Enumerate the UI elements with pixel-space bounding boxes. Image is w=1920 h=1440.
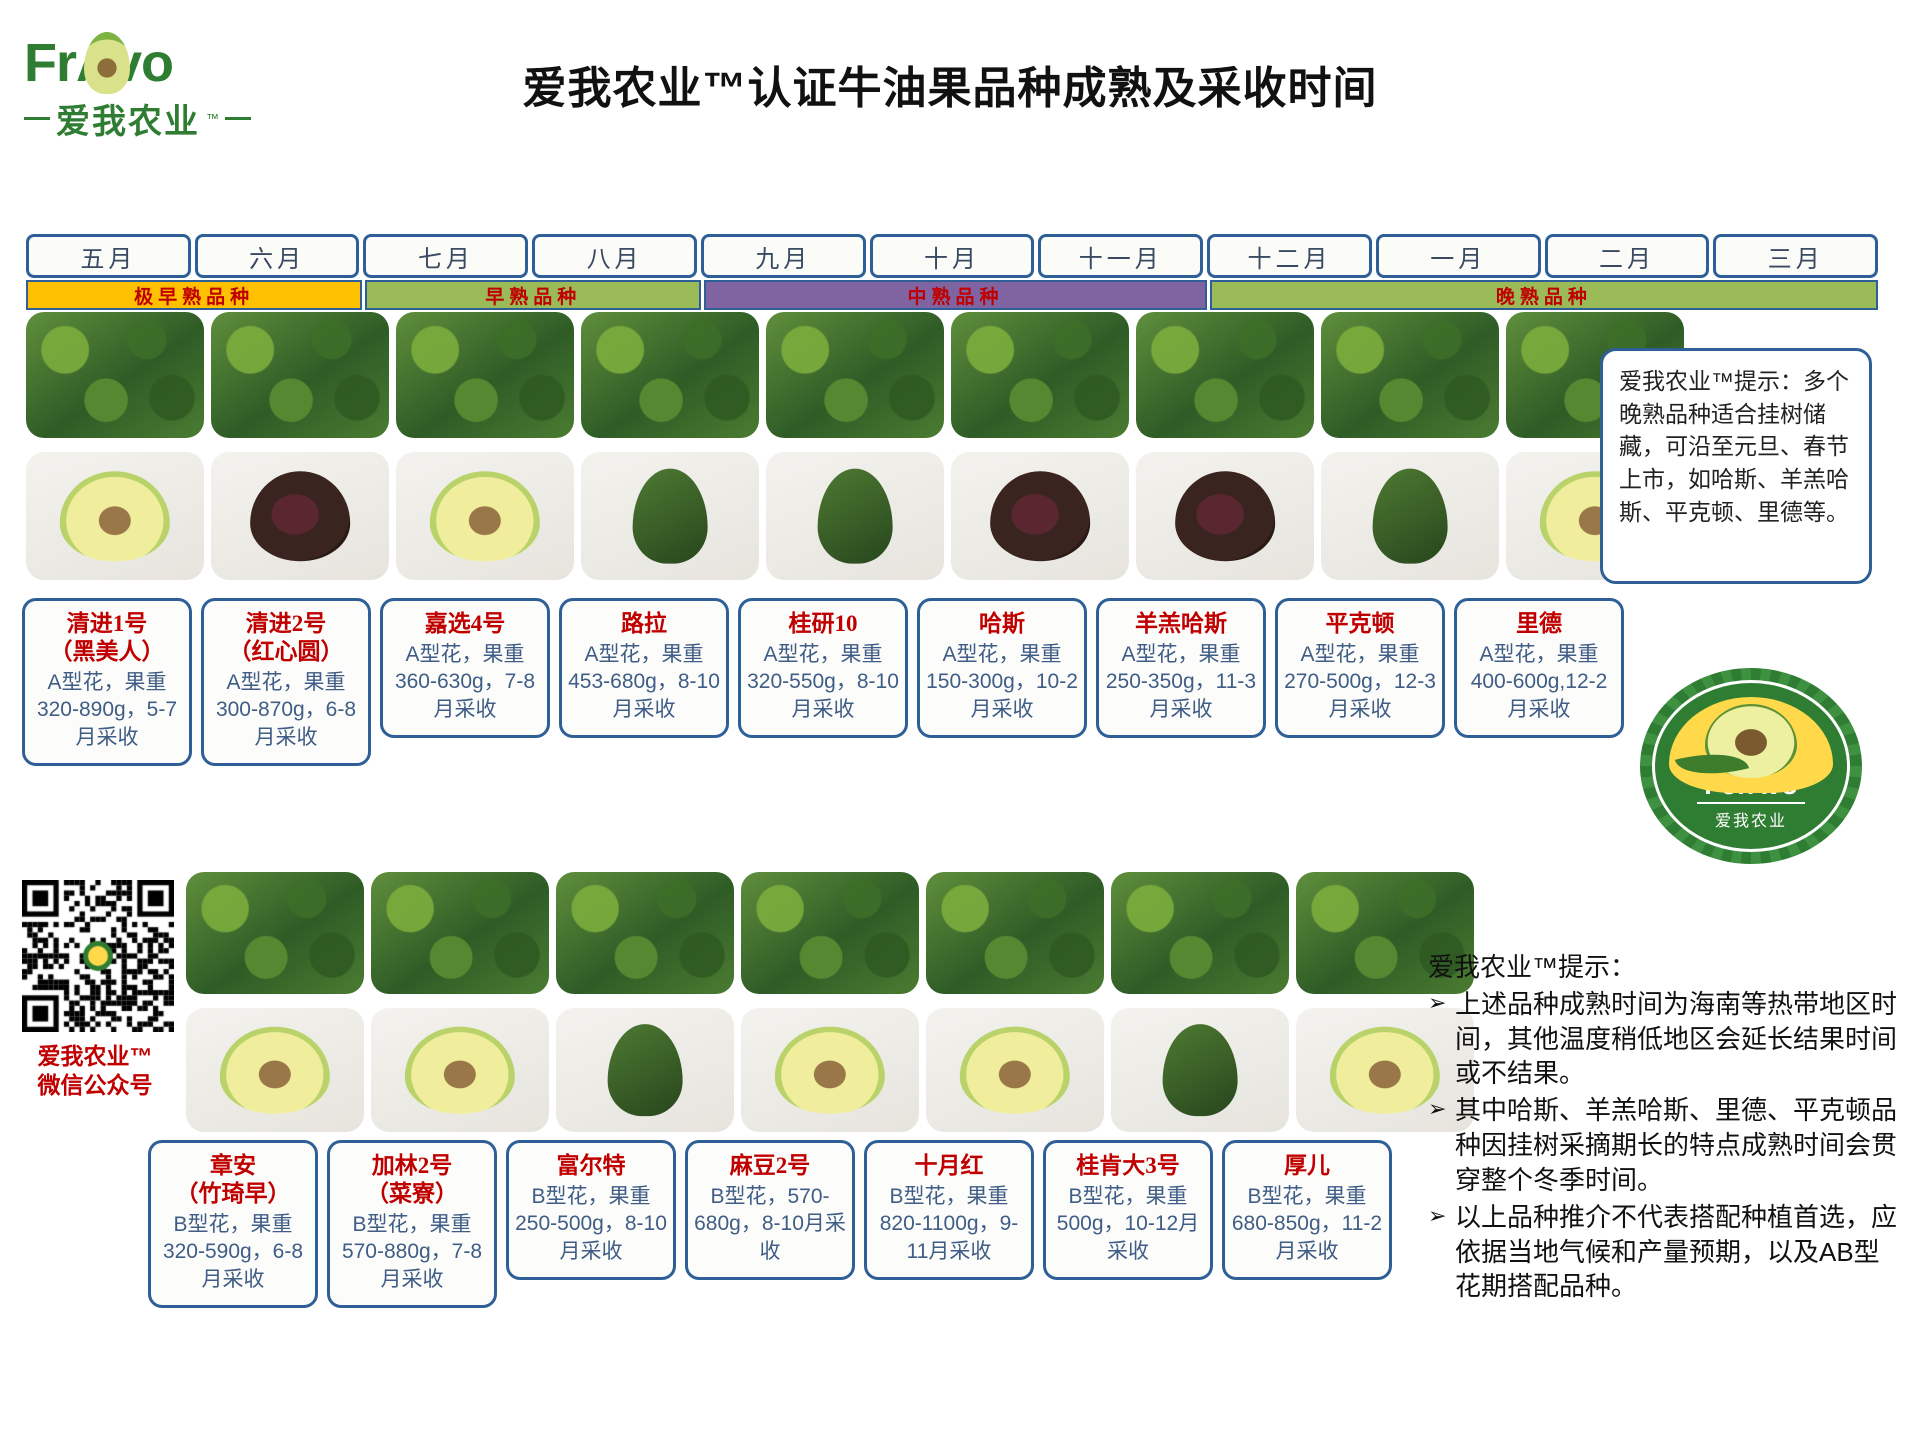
logo-rule-right <box>225 117 251 120</box>
logo-wordmark: FrAvo <box>24 36 294 90</box>
fruit-photo-r2-2 <box>371 1008 549 1132</box>
page-title: 爱我农业™认证牛油果品种成熟及采收时间 <box>400 52 1500 116</box>
tree-photo-r1-8 <box>1321 312 1499 438</box>
row2-fruit-photos <box>186 1008 1474 1132</box>
avocado-half-icon <box>405 1027 515 1114</box>
tree-photo-r2-5 <box>926 872 1104 994</box>
row1-card-1[interactable]: 清进1号（黑美人）A型花，果重320-890g，5-7月采收 <box>22 598 192 766</box>
wechat-qr-code[interactable] <box>22 880 174 1032</box>
row2-tree-photos <box>186 872 1474 994</box>
season-band-4: 晚熟品种 <box>1210 280 1878 310</box>
qr-caption: 爱我农业™ 微信公众号 <box>10 1042 180 1099</box>
variety-name: 清进1号 <box>31 610 183 638</box>
month-cell-7: 十一月 <box>1038 234 1203 278</box>
variety-description: A型花，果重320-890g，5-7月采收 <box>31 669 183 751</box>
row1-card-4[interactable]: 路拉A型花，果重453-680g，8-10月采收 <box>559 598 729 738</box>
logo-word-f: F <box>24 33 56 93</box>
month-cell-11: 三月 <box>1713 234 1878 278</box>
avocado-half-icon <box>775 1027 885 1114</box>
month-cell-3: 七月 <box>363 234 528 278</box>
fruit-photo-r1-7 <box>1136 452 1314 580</box>
bullet-arrow-icon: ➢ <box>1428 1200 1448 1304</box>
tree-photo-r1-6 <box>951 312 1129 438</box>
fruit-photo-r2-5 <box>926 1008 1104 1132</box>
tip-item-text: 以上品种推介不代表搭配种植首选，应依据当地气候和产量预期，以及AB型花期搭配品种… <box>1455 1200 1898 1304</box>
variety-description: B型花，果重680-850g，11-2月采收 <box>1231 1183 1383 1265</box>
variety-description: B型花，570-680g，8-10月采收 <box>694 1183 846 1265</box>
month-cell-1: 五月 <box>26 234 191 278</box>
logo-rule-left <box>24 117 50 120</box>
logo-chinese: 爱我农业 ™ <box>24 94 294 143</box>
variety-name: 十月红 <box>873 1152 1025 1180</box>
fruit-photo-r2-1 <box>186 1008 364 1132</box>
tree-photo-r1-7 <box>1136 312 1314 438</box>
variety-name: 富尔特 <box>515 1152 667 1180</box>
avocado-half-icon <box>220 1027 330 1114</box>
tip-item-2: ➢其中哈斯、羊羔哈斯、里德、平克顿品种因挂树采摘期长的特点成熟时间会贯穿整个冬季… <box>1428 1093 1898 1197</box>
badge-yellow-field <box>1669 697 1833 793</box>
variety-name: 桂研10 <box>747 610 899 638</box>
row1-variety-cards: 清进1号（黑美人）A型花，果重320-890g，5-7月采收清进2号（红心圆）A… <box>22 598 1624 766</box>
variety-alias: （竹琦早） <box>157 1180 309 1208</box>
row1-card-8[interactable]: 平克顿A型花，果重270-500g，12-3月采收 <box>1275 598 1445 738</box>
row1-card-6[interactable]: 哈斯A型花，果重150-300g，10-2月采收 <box>917 598 1087 738</box>
tip-item-text: 其中哈斯、羊羔哈斯、里德、平克顿品种因挂树采摘期长的特点成熟时间会贯穿整个冬季时… <box>1455 1093 1898 1197</box>
month-cell-10: 二月 <box>1545 234 1710 278</box>
fruit-photo-r2-4 <box>741 1008 919 1132</box>
variety-description: B型花，果重570-880g，7-8月采收 <box>336 1211 488 1293</box>
row1-card-3[interactable]: 嘉选4号A型花，果重360-630g，7-8月采收 <box>380 598 550 738</box>
variety-name: 清进2号 <box>210 610 362 638</box>
avocado-whole-icon <box>1373 469 1448 564</box>
tip-item-1: ➢上述品种成熟时间为海南等热带地区时间，其他温度稍低地区会延长结果时间或不结果。 <box>1428 987 1898 1091</box>
row1-fruit-photos <box>26 452 1684 580</box>
variety-name: 平克顿 <box>1284 610 1436 638</box>
variety-name: 里德 <box>1463 610 1615 638</box>
tree-photo-r2-1 <box>186 872 364 994</box>
variety-name: 哈斯 <box>926 610 1078 638</box>
fruit-photo-r1-8 <box>1321 452 1499 580</box>
avocado-whole-icon <box>608 1024 683 1116</box>
row1-card-7[interactable]: 羊羔哈斯A型花，果重250-350g，11-3月采收 <box>1096 598 1266 738</box>
avocado-whole-icon <box>1163 1024 1238 1116</box>
variety-name: 嘉选4号 <box>389 610 541 638</box>
variety-description: A型花，果重400-600g,12-2月采收 <box>1463 641 1615 723</box>
variety-name: 章安 <box>157 1152 309 1180</box>
variety-name: 羊羔哈斯 <box>1105 610 1257 638</box>
tree-photo-r1-4 <box>581 312 759 438</box>
variety-name: 桂肯大3号 <box>1052 1152 1204 1180</box>
qr-caption-line1: 爱我农业™ <box>10 1042 180 1071</box>
avocado-dark-icon <box>250 471 350 561</box>
infographic-page: FrAvo 爱我农业 ™ 爱我农业™认证牛油果品种成熟及采收时间 五月六月七月八… <box>0 0 1920 1440</box>
tree-photo-r1-2 <box>211 312 389 438</box>
variety-name: 麻豆2号 <box>694 1152 846 1180</box>
fruit-photo-r1-6 <box>951 452 1129 580</box>
variety-description: B型花，果重500g，10-12月采收 <box>1052 1183 1204 1265</box>
variety-name: 厚儿 <box>1231 1152 1383 1180</box>
tree-photo-r1-3 <box>396 312 574 438</box>
row1-tree-photos <box>26 312 1684 438</box>
avocado-half-icon <box>960 1027 1070 1114</box>
brand-badge: ForAvo 爱我农业 <box>1640 668 1862 864</box>
tree-photo-r2-4 <box>741 872 919 994</box>
season-band-1: 极早熟品种 <box>26 280 362 310</box>
fruit-photo-r1-3 <box>396 452 574 580</box>
avocado-whole-icon <box>633 469 708 564</box>
fruit-photo-r2-6 <box>1111 1008 1289 1132</box>
variety-description: A型花，果重300-870g，6-8月采收 <box>210 669 362 751</box>
variety-description: B型花，果重820-1100g，9-11月采收 <box>873 1183 1025 1265</box>
season-band-strip: 极早熟品种早熟品种中熟品种晚熟品种 <box>26 280 1878 310</box>
bullet-arrow-icon: ➢ <box>1428 1093 1448 1197</box>
variety-description: A型花，果重270-500g，12-3月采收 <box>1284 641 1436 723</box>
tip-box-top: 爱我农业™提示：多个晚熟品种适合挂树储藏，可沿至元旦、春节上市，如哈斯、羊羔哈斯… <box>1600 348 1872 584</box>
logo-tm-mark: ™ <box>206 111 219 126</box>
row2-card-2[interactable]: 加林2号（菜寮）B型花，果重570-880g，7-8月采收 <box>327 1140 497 1308</box>
row2-card-7[interactable]: 厚儿B型花，果重680-850g，11-2月采收 <box>1222 1140 1392 1280</box>
fruit-photo-r1-4 <box>581 452 759 580</box>
variety-description: A型花，果重453-680g，8-10月采收 <box>568 641 720 723</box>
qr-caption-line2: 微信公众号 <box>10 1071 180 1100</box>
fruit-photo-r1-2 <box>211 452 389 580</box>
logo-cn-text: 爱我农业 <box>56 94 200 143</box>
badge-rule <box>1697 802 1805 804</box>
variety-name: 路拉 <box>568 610 720 638</box>
variety-description: A型花，果重360-630g，7-8月采收 <box>389 641 541 723</box>
tree-photo-r2-3 <box>556 872 734 994</box>
row1-card-9[interactable]: 里德A型花，果重400-600g,12-2月采收 <box>1454 598 1624 738</box>
row2-card-6[interactable]: 桂肯大3号B型花，果重500g，10-12月采收 <box>1043 1140 1213 1280</box>
avocado-whole-icon <box>818 469 893 564</box>
month-cell-5: 九月 <box>701 234 866 278</box>
month-cell-4: 八月 <box>532 234 697 278</box>
variety-description: A型花，果重320-550g，8-10月采收 <box>747 641 899 723</box>
month-cell-6: 十月 <box>870 234 1035 278</box>
month-cell-2: 六月 <box>195 234 360 278</box>
fruit-photo-r2-3 <box>556 1008 734 1132</box>
variety-name: 加林2号 <box>336 1152 488 1180</box>
month-cell-9: 一月 <box>1376 234 1541 278</box>
variety-alias: （菜寮） <box>336 1180 488 1208</box>
tip-bottom-heading: 爱我农业™提示： <box>1428 950 1898 985</box>
row1-card-2[interactable]: 清进2号（红心圆）A型花，果重300-870g，6-8月采收 <box>201 598 371 766</box>
row2-card-5[interactable]: 十月红B型花，果重820-1100g，9-11月采收 <box>864 1140 1034 1280</box>
brand-logo: FrAvo 爱我农业 ™ <box>24 36 294 146</box>
avocado-dark-icon <box>1175 471 1275 561</box>
variety-description: B型花，果重250-500g，8-10月采收 <box>515 1183 667 1265</box>
variety-alias: （红心圆） <box>210 638 362 666</box>
variety-description: A型花，果重250-350g，11-3月采收 <box>1105 641 1257 723</box>
fruit-photo-r1-1 <box>26 452 204 580</box>
tree-photo-r2-2 <box>371 872 549 994</box>
row2-card-1[interactable]: 章安（竹琦早）B型花，果重320-590g，6-8月采收 <box>148 1140 318 1308</box>
variety-description: B型花，果重320-590g，6-8月采收 <box>157 1211 309 1293</box>
variety-alias: （黑美人） <box>31 638 183 666</box>
avocado-half-icon <box>1330 1027 1440 1114</box>
tree-photo-r1-1 <box>26 312 204 438</box>
season-band-3: 中熟品种 <box>704 280 1206 310</box>
season-band-2: 早熟品种 <box>365 280 701 310</box>
bullet-arrow-icon: ➢ <box>1428 987 1448 1091</box>
row2-card-4[interactable]: 麻豆2号B型花，570-680g，8-10月采收 <box>685 1140 855 1280</box>
avocado-half-icon <box>60 471 170 561</box>
month-strip: 五月六月七月八月九月十月十一月十二月一月二月三月 <box>26 234 1878 278</box>
avocado-dark-icon <box>990 471 1090 561</box>
avocado-half-icon <box>430 471 540 561</box>
badge-chinese: 爱我农业 <box>1715 807 1787 831</box>
tip-item-text: 上述品种成熟时间为海南等热带地区时间，其他温度稍低地区会延长结果时间或不结果。 <box>1455 987 1898 1091</box>
row2-variety-cards: 章安（竹琦早）B型花，果重320-590g，6-8月采收加林2号（菜寮）B型花，… <box>148 1140 1392 1308</box>
tip-box-bottom: 爱我农业™提示： ➢上述品种成熟时间为海南等热带地区时间，其他温度稍低地区会延长… <box>1428 950 1898 1304</box>
tip-bottom-list: ➢上述品种成熟时间为海南等热带地区时间，其他温度稍低地区会延长结果时间或不结果。… <box>1428 987 1898 1304</box>
badge-inner: ForAvo 爱我农业 <box>1652 680 1850 852</box>
fruit-photo-r1-5 <box>766 452 944 580</box>
row2-card-3[interactable]: 富尔特B型花，果重250-500g，8-10月采收 <box>506 1140 676 1280</box>
tree-photo-r2-6 <box>1111 872 1289 994</box>
row1-card-5[interactable]: 桂研10A型花，果重320-550g，8-10月采收 <box>738 598 908 738</box>
tree-photo-r1-5 <box>766 312 944 438</box>
month-cell-8: 十二月 <box>1207 234 1372 278</box>
variety-description: A型花，果重150-300g，10-2月采收 <box>926 641 1078 723</box>
tip-item-3: ➢以上品种推介不代表搭配种植首选，应依据当地气候和产量预期，以及AB型花期搭配品… <box>1428 1200 1898 1304</box>
